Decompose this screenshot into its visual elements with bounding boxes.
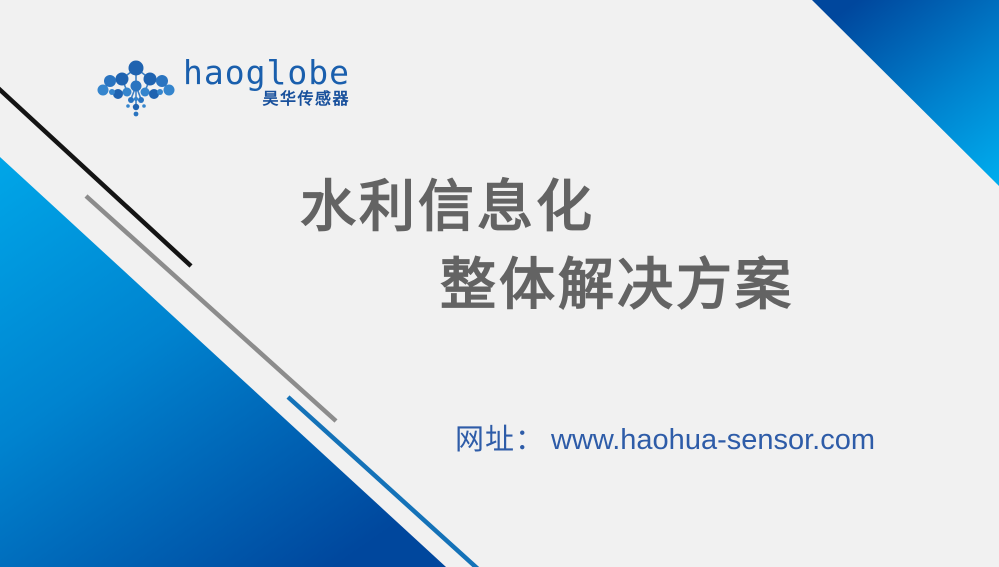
presentation-slide: haoglobe 昊华传感器 水利信息化 整体解决方案 网址： www.haoh…: [0, 0, 999, 567]
triangle-top-right-shape: [812, 0, 999, 186]
page-title: 水利信息化 整体解决方案: [300, 168, 900, 324]
logo-chinese-name: 昊华传感器: [262, 91, 350, 109]
diagonal-line-blue: [288, 397, 478, 567]
website-line: 网址： www.haohua-sensor.com: [455, 420, 875, 460]
website-url[interactable]: www.haohua-sensor.com: [551, 420, 875, 460]
logo-text: haoglobe 昊华传感器: [183, 56, 350, 109]
network-node-cluster-icon: [97, 59, 175, 117]
diagonal-line-gray: [86, 196, 336, 421]
logo-wordmark: haoglobe: [183, 56, 350, 90]
website-label: 网址：: [455, 420, 545, 460]
company-logo: haoglobe 昊华传感器: [97, 56, 350, 117]
title-line-1: 水利信息化: [300, 168, 900, 246]
title-line-2: 整体解决方案: [300, 246, 900, 324]
